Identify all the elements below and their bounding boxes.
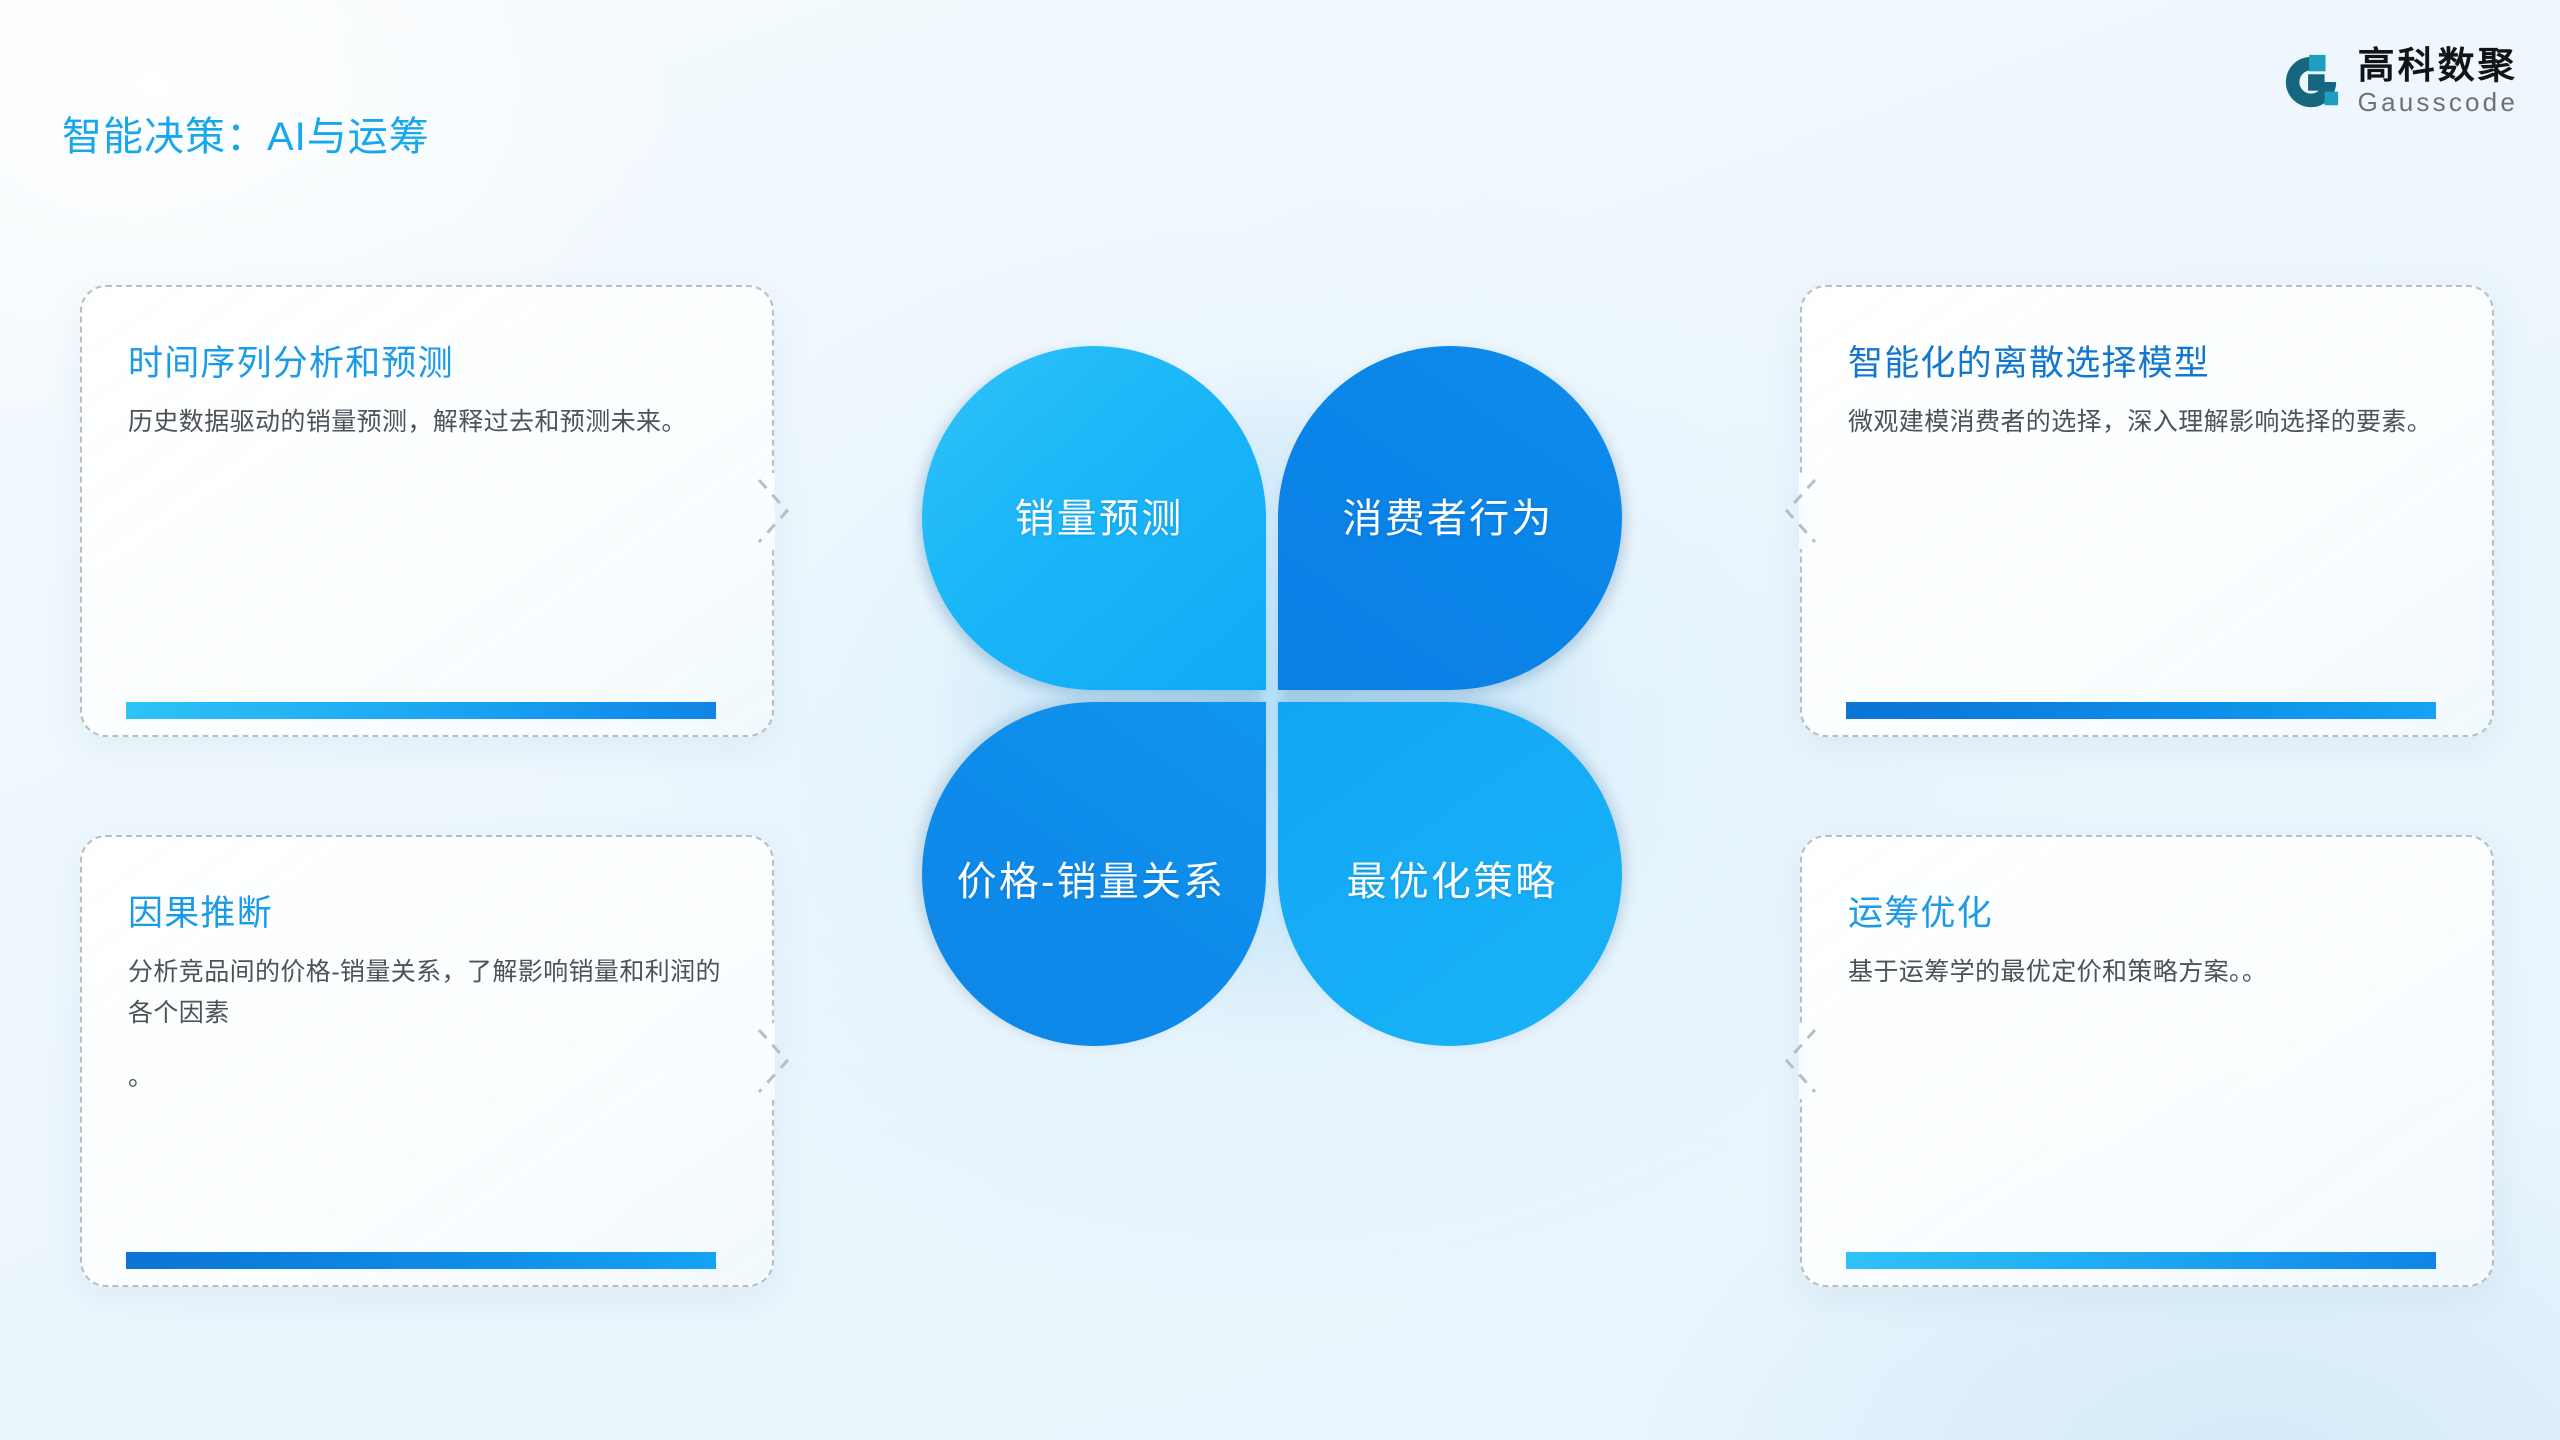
petal-label: 销量预测 xyxy=(1015,486,1184,544)
slide-root: 智能决策：AI与运筹 高科数聚 Gausscode 销量预测 消费者行为 价格-… xyxy=(0,0,2560,1440)
card-description: 历史数据驱动的销量预测，解释过去和预测未来。 xyxy=(128,402,726,443)
chevron-left-icon xyxy=(1779,474,1821,548)
card-accent-bar xyxy=(1846,702,2436,719)
card-operations-research[interactable]: 运筹优化 基于运筹学的最优定价和策略方案。。 xyxy=(1800,835,2494,1287)
petal-sales-forecast[interactable]: 销量预测 xyxy=(922,346,1266,690)
card-title: 时间序列分析和预测 xyxy=(128,343,726,384)
petal-label: 消费者行为 xyxy=(1343,486,1554,544)
card-accent-bar xyxy=(126,702,716,719)
petal-optimal-strategy[interactable]: 最优化策略 xyxy=(1278,702,1622,1046)
card-discrete-choice[interactable]: 智能化的离散选择模型 微观建模消费者的选择，深入理解影响选择的要素。 xyxy=(1800,285,2494,737)
page-title: 智能决策：AI与运筹 xyxy=(62,104,430,162)
petal-price-volume[interactable]: 价格-销量关系 xyxy=(922,702,1266,1046)
card-causal-inference[interactable]: 因果推断 分析竞品间的价格-销量关系，了解影响销量和利润的各个因素 。 xyxy=(80,835,774,1287)
chevron-right-icon xyxy=(753,474,795,548)
gausscode-mark-icon xyxy=(2280,51,2342,113)
card-accent-bar xyxy=(126,1252,716,1269)
card-title: 智能化的离散选择模型 xyxy=(1848,343,2446,384)
card-title: 因果推断 xyxy=(128,893,726,934)
card-description-main: 分析竞品间的价格-销量关系，了解影响销量和利润的各个因素 xyxy=(128,958,721,1027)
card-description: 微观建模消费者的选择，深入理解影响选择的要素。 xyxy=(1848,402,2446,443)
logo-cn-name: 高科数聚 xyxy=(2358,46,2518,86)
logo-text-block: 高科数聚 Gausscode xyxy=(2358,46,2518,117)
chevron-left-icon xyxy=(1779,1024,1821,1098)
card-accent-bar xyxy=(1846,1252,2436,1269)
card-time-series[interactable]: 时间序列分析和预测 历史数据驱动的销量预测，解释过去和预测未来。 xyxy=(80,285,774,737)
brand-logo: 高科数聚 Gausscode xyxy=(2280,46,2518,117)
card-description: 基于运筹学的最优定价和策略方案。。 xyxy=(1848,952,2446,993)
petal-label: 最优化策略 xyxy=(1347,849,1558,907)
chevron-right-icon xyxy=(753,1024,795,1098)
petal-consumer-behavior[interactable]: 消费者行为 xyxy=(1278,346,1622,690)
card-title: 运筹优化 xyxy=(1848,893,2446,934)
card-description-tail: 。 xyxy=(128,1057,726,1098)
logo-en-name: Gausscode xyxy=(2358,88,2518,117)
clover-diagram: 销量预测 消费者行为 价格-销量关系 最优化策略 xyxy=(922,346,1622,1046)
petal-label: 价格-销量关系 xyxy=(957,849,1226,907)
card-description: 分析竞品间的价格-销量关系，了解影响销量和利润的各个因素 。 xyxy=(128,952,726,1098)
